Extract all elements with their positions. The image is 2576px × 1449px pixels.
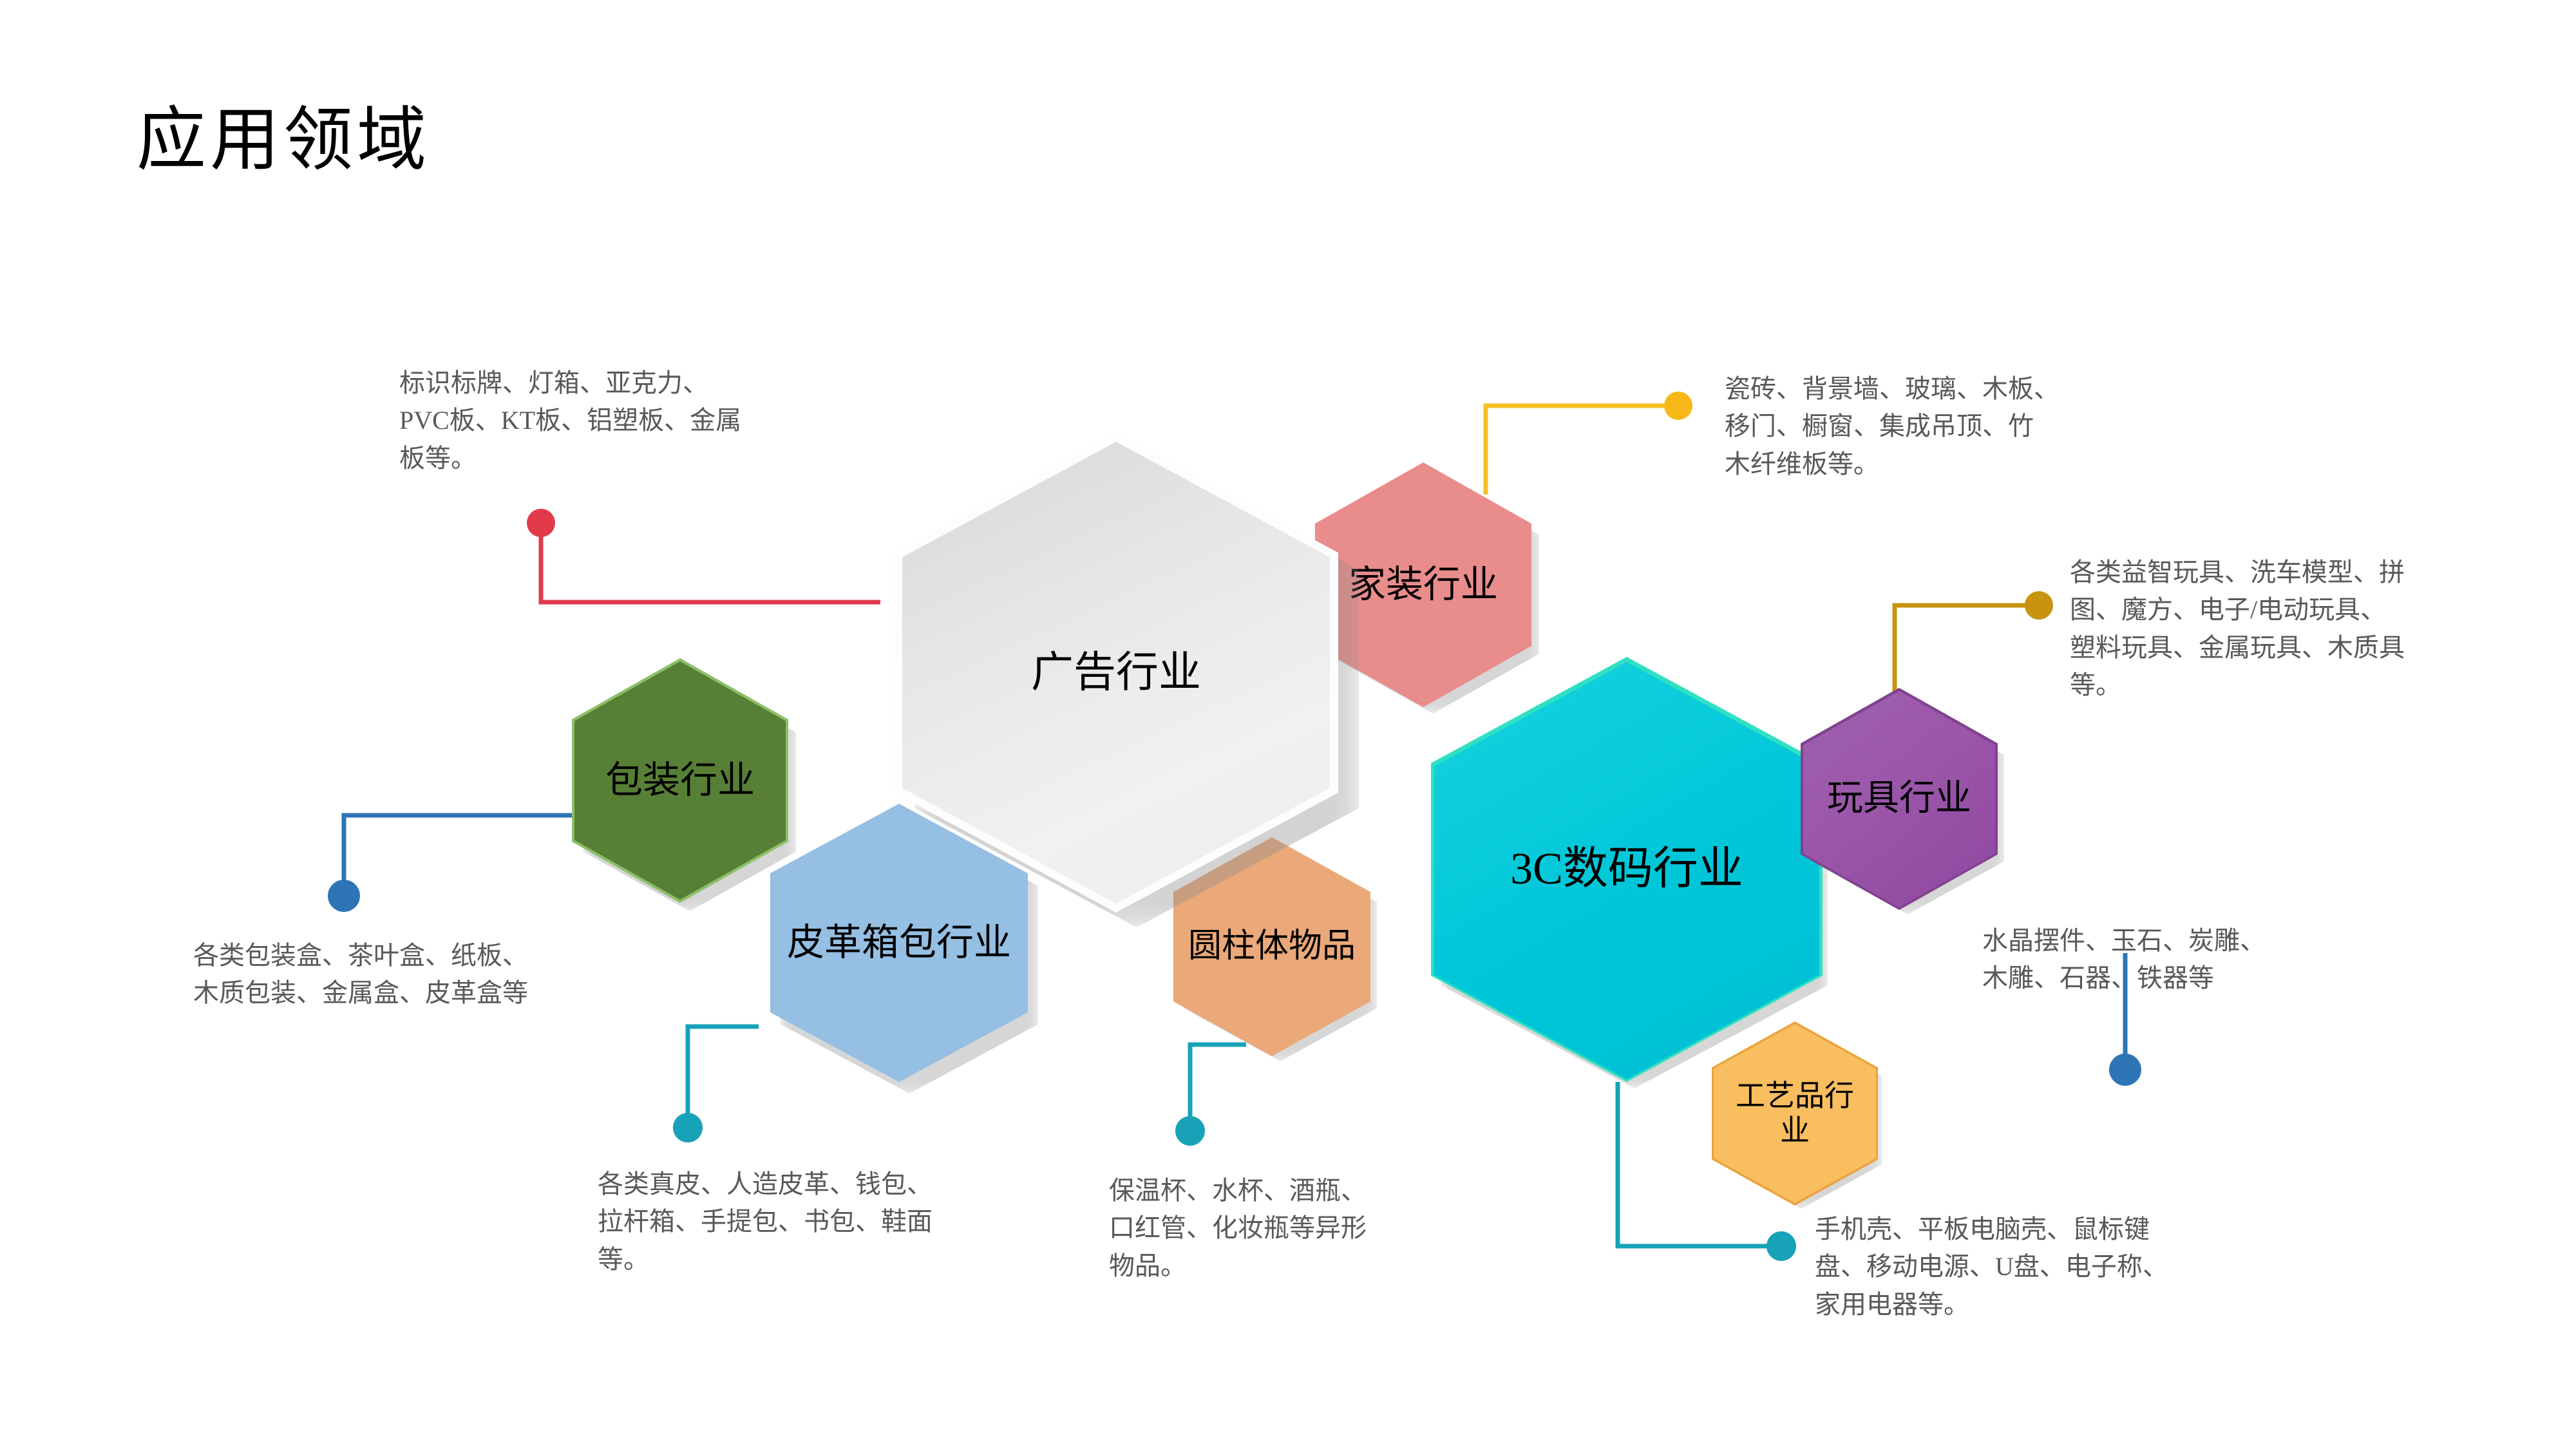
hexagon-home-decoration-label: 家装行业 bbox=[1336, 563, 1511, 607]
description-toys: 各类益智玩具、洗车模型、拼 图、魔方、电子/电动玩具、 塑料玩具、金属玩具、木质… bbox=[2070, 554, 2521, 705]
dot-toys bbox=[2025, 591, 2053, 620]
hexagon-advertising-label: 广告行业 bbox=[1005, 648, 1228, 698]
description-packaging: 各类包装盒、茶叶盒、纸板、 木质包装、金属盒、皮革盒等 bbox=[193, 937, 657, 1012]
dot-digital-3c bbox=[1766, 1231, 1796, 1261]
description-home-decoration: 瓷砖、背景墙、玻璃、木板、 移门、橱窗、集成吊顶、竹 木纤维板等。 bbox=[1725, 370, 2169, 483]
hexagon-digital-3c-label: 3C数码行业 bbox=[1487, 843, 1767, 896]
dot-home-decoration bbox=[1664, 392, 1692, 420]
dot-advertising bbox=[527, 509, 555, 537]
connector-packaging bbox=[344, 815, 574, 892]
slide-canvas: 应用领域 包装行业 皮革箱包行业 bbox=[0, 0, 2576, 1449]
description-leather: 各类真皮、人造皮革、钱包、 拉杆箱、手提包、书包、鞋面 等。 bbox=[598, 1166, 1048, 1278]
description-handicrafts: 水晶摆件、玉石、炭雕、 木雕、石器、铁器等 bbox=[1982, 922, 2433, 998]
dot-leather bbox=[673, 1113, 703, 1142]
dot-packaging bbox=[328, 880, 360, 912]
description-cylindrical: 保温杯、水杯、酒瓶、 口红管、化妆瓶等异形 物品。 bbox=[1109, 1172, 1470, 1285]
connector-leather bbox=[688, 1027, 759, 1124]
hexagon-packaging-label: 包装行业 bbox=[592, 759, 768, 802]
dot-handicrafts bbox=[2109, 1054, 2141, 1086]
hexagon-handicrafts-label: 工艺品行业 bbox=[1712, 1079, 1878, 1149]
description-digital-3c: 手机壳、平板电脑壳、鼠标键 盘、移动电源、U盘、电子称、 家用电器等。 bbox=[1815, 1211, 2278, 1323]
description-advertising: 标识标牌、灯箱、亚克力、 PVC板、KT板、铝塑板、金属 板等。 bbox=[399, 365, 844, 477]
hexagon-cylindrical-objects-label: 圆柱体物品 bbox=[1177, 927, 1368, 966]
connector-advertising bbox=[541, 527, 880, 602]
dot-cylindrical bbox=[1175, 1116, 1205, 1146]
hexagon-toys-label: 玩具行业 bbox=[1815, 777, 1984, 820]
connector-home-decoration bbox=[1486, 406, 1668, 495]
connector-cylindrical bbox=[1190, 1045, 1246, 1127]
hexagon-leather-luggage-label: 皮革箱包行业 bbox=[772, 921, 1027, 965]
